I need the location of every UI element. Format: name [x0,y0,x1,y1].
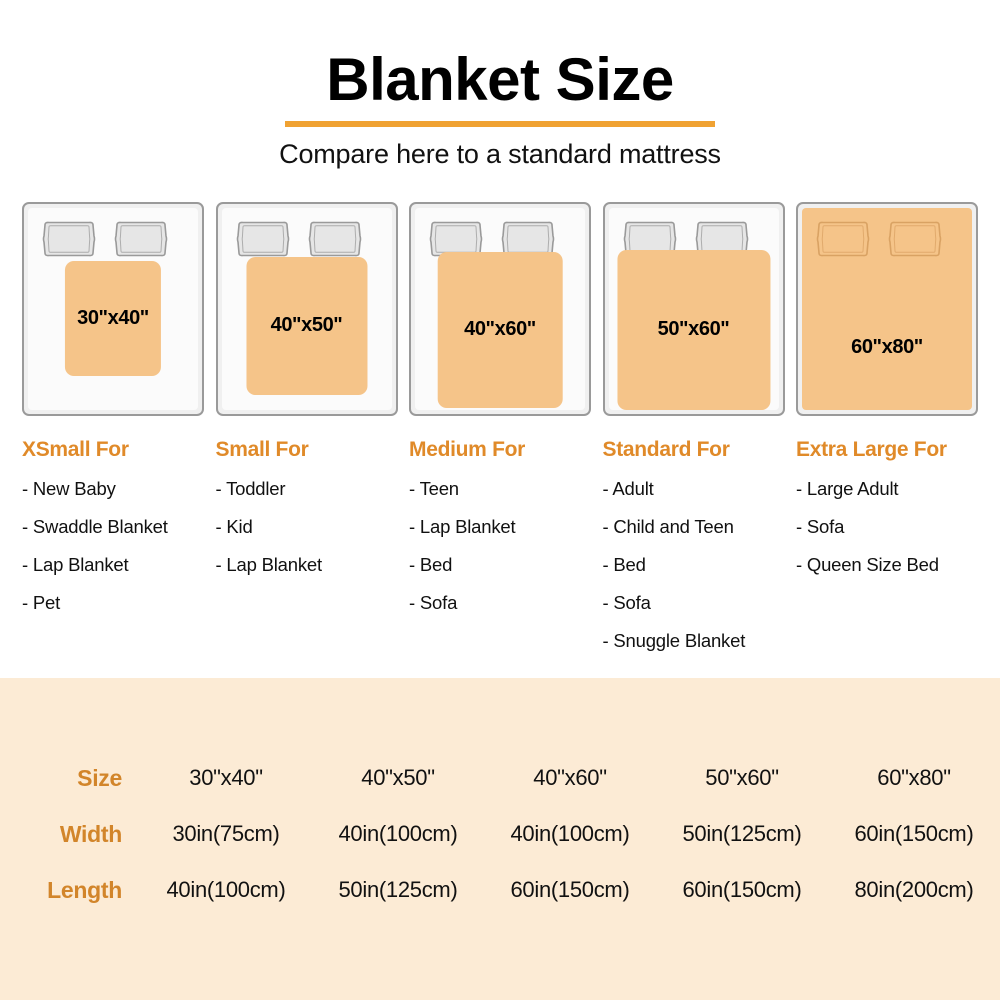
pillow-icon [112,219,170,259]
mattress-diagram: 60"x80" [796,202,978,416]
use-case-item: - Bed [603,554,785,576]
use-case-item: - Adult [603,478,785,500]
spec-cell: 40"x60" [484,750,656,806]
bed-cell: 30"x40"XSmall For- New Baby- Swaddle Bla… [22,202,204,652]
pillow-icon [306,219,364,259]
use-case-list: - New Baby- Swaddle Blanket- Lap Blanket… [22,478,204,614]
use-case-item: - Child and Teen [603,516,785,538]
category-heading: Small For [216,438,398,462]
blanket-size-label: 60"x80" [798,336,976,359]
spec-cell: 50in(125cm) [656,806,828,862]
blanket-overlay: 30"x40" [65,261,161,377]
use-case-item: - Swaddle Blanket [22,516,204,538]
spec-cell: 80in(200cm) [828,862,1000,918]
blanket-overlay: 40"x50" [246,257,367,396]
spec-table: Size30"x40"40"x50"40"x60"50"x60"60"x80"W… [0,750,1000,918]
use-case-list: - Teen- Lap Blanket- Bed- Sofa [409,478,591,614]
spec-cell: 40in(100cm) [312,806,484,862]
use-case-item: - Lap Blanket [216,554,398,576]
use-case-item: - Bed [409,554,591,576]
page-title: Blanket Size [320,48,679,121]
blanket-size-label: 50"x60" [658,318,730,341]
spec-cell: 40in(100cm) [484,806,656,862]
blanket-size-label: 30"x40" [77,307,149,330]
use-case-item: - Teen [409,478,591,500]
mattress-diagram: 30"x40" [22,202,204,416]
pillow-icon [886,219,944,259]
spec-cell: 40in(100cm) [140,862,312,918]
category-heading: Medium For [409,438,591,462]
bed-cell: 60"x80"Extra Large For- Large Adult- Sof… [796,202,978,652]
use-case-item: - Sofa [796,516,978,538]
spec-row-label: Size [0,750,140,806]
pillow-icon [234,219,292,259]
spec-cell: 40"x50" [312,750,484,806]
blanket-size-label: 40"x60" [464,318,536,341]
use-case-item: - Snuggle Blanket [603,630,785,652]
use-case-list: - Toddler- Kid- Lap Blanket [216,478,398,576]
use-case-item: - Lap Blanket [22,554,204,576]
category-heading: XSmall For [22,438,204,462]
use-case-item: - Kid [216,516,398,538]
mattress-diagram: 50"x60" [603,202,785,416]
mattress-diagram: 40"x50" [216,202,398,416]
bed-comparison-grid: 30"x40"XSmall For- New Baby- Swaddle Bla… [0,170,1000,652]
spec-cell: 60in(150cm) [484,862,656,918]
use-case-item: - Sofa [409,592,591,614]
use-case-list: - Large Adult- Sofa- Queen Size Bed [796,478,978,576]
spec-cell: 60in(150cm) [828,806,1000,862]
use-case-item: - Toddler [216,478,398,500]
use-case-item: - Sofa [603,592,785,614]
bed-cell: 40"x60"Medium For- Teen- Lap Blanket- Be… [409,202,591,652]
use-case-item: - Pet [22,592,204,614]
use-case-item: - Queen Size Bed [796,554,978,576]
bed-cell: 50"x60"Standard For- Adult- Child and Te… [603,202,785,652]
title-underline [285,121,715,127]
category-heading: Standard For [603,438,785,462]
blanket-size-label: 40"x50" [271,314,343,337]
spec-cell: 30"x40" [140,750,312,806]
header: Blanket Size Compare here to a standard … [0,0,1000,170]
spec-row-label: Width [0,806,140,862]
pillow-icon [814,219,872,259]
spec-cell: 60in(150cm) [656,862,828,918]
bed-cell: 40"x50"Small For- Toddler- Kid- Lap Blan… [216,202,398,652]
category-heading: Extra Large For [796,438,978,462]
blanket-overlay: 40"x60" [438,252,563,407]
mattress-diagram: 40"x60" [409,202,591,416]
use-case-item: - New Baby [22,478,204,500]
spec-cell: 30in(75cm) [140,806,312,862]
blanket-overlay: 50"x60" [617,250,770,410]
spec-cell: 60"x80" [828,750,1000,806]
use-case-item: - Lap Blanket [409,516,591,538]
page-subtitle: Compare here to a standard mattress [0,139,1000,170]
spec-cell: 50in(125cm) [312,862,484,918]
spec-table-row: Width30in(75cm)40in(100cm)40in(100cm)50i… [0,806,1000,862]
use-case-list: - Adult- Child and Teen- Bed- Sofa- Snug… [603,478,785,652]
pillow-icon [40,219,98,259]
spec-band: Size30"x40"40"x50"40"x60"50"x60"60"x80"W… [0,678,1000,1000]
spec-cell: 50"x60" [656,750,828,806]
spec-table-row: Length40in(100cm)50in(125cm)60in(150cm)6… [0,862,1000,918]
use-case-item: - Large Adult [796,478,978,500]
spec-row-label: Length [0,862,140,918]
spec-table-row: Size30"x40"40"x50"40"x60"50"x60"60"x80" [0,750,1000,806]
